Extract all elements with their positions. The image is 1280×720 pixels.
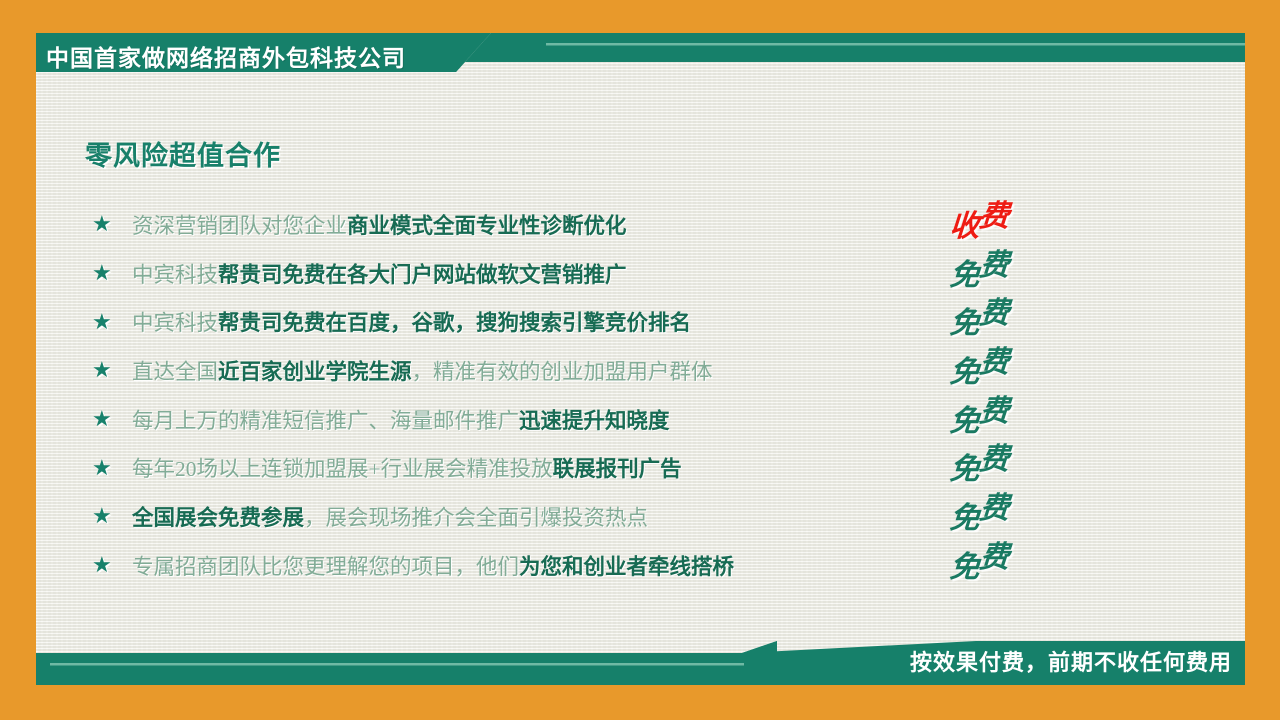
star-bullet-icon: ★ (92, 457, 132, 479)
benefit-row: ★资深营销团队对您企业商业模式全面专业性诊断优化 (92, 200, 1092, 249)
benefit-text-plain: 每年20场以上连锁加盟展+行业展会精准投放 (132, 457, 553, 481)
benefit-text-plain: 专属招商团队比您更理解您的项目，他们 (132, 555, 519, 579)
benefit-text-plain: ，精准有效的创业加盟用户群体 (412, 360, 713, 384)
benefit-list: ★资深营销团队对您企业商业模式全面专业性诊断优化★中宾科技帮贵司免费在各大门户网… (92, 200, 1092, 590)
status-badge: 免费 (948, 489, 1009, 538)
badge-row: 免费 (950, 249, 1070, 298)
benefit-text-emphasis: 联展报刊广告 (553, 457, 682, 481)
benefit-text-plain: 资深营销团队对您企业 (132, 214, 347, 238)
badge-char: 费 (978, 339, 1010, 388)
benefit-text-emphasis: 全国展会免费参展 (132, 506, 304, 530)
badge-char: 费 (978, 193, 1010, 242)
benefit-text-emphasis: 为您和创业者牵线搭桥 (519, 555, 734, 579)
benefit-text-emphasis: 帮贵司免费在各大门户网站做软文营销推广 (218, 263, 627, 287)
benefit-row: ★直达全国近百家创业学院生源，精准有效的创业加盟用户群体 (92, 346, 1092, 395)
benefit-row: ★中宾科技帮贵司免费在百度，谷歌，搜狗搜索引擎竞价排名 (92, 297, 1092, 346)
benefit-text-plain: 中宾科技 (132, 263, 218, 287)
star-bullet-icon: ★ (92, 311, 132, 333)
benefit-text-plain: 每月上万的精准短信推广、海量邮件推广 (132, 409, 519, 433)
badge-row: 免费 (950, 443, 1070, 492)
price-badge-column: 收费免费免费免费免费免费免费免费 (950, 200, 1070, 590)
benefit-text-emphasis: 近百家创业学院生源 (218, 360, 412, 384)
benefit-row: ★中宾科技帮贵司免费在各大门户网站做软文营销推广 (92, 249, 1092, 298)
benefit-row: ★每月上万的精准短信推广、海量邮件推广迅速提升知晓度 (92, 395, 1092, 444)
benefit-text-plain: 中宾科技 (132, 311, 218, 335)
badge-char: 免 (948, 495, 980, 544)
badge-char: 费 (978, 388, 1010, 437)
benefit-row: ★专属招商团队比您更理解您的项目，他们为您和创业者牵线搭桥 (92, 541, 1092, 590)
badge-char: 免 (948, 446, 980, 495)
badge-row: 免费 (950, 395, 1070, 444)
benefit-row: ★全国展会免费参展，展会现场推介会全面引爆投资热点 (92, 492, 1092, 541)
badge-char: 费 (978, 485, 1010, 534)
badge-char: 费 (978, 436, 1010, 485)
star-bullet-icon: ★ (92, 505, 132, 527)
benefit-row: ★每年20场以上连锁加盟展+行业展会精准投放联展报刊广告 (92, 443, 1092, 492)
page-title: 零风险超值合作 (85, 134, 281, 173)
benefit-text-plain: 直达全国 (132, 360, 218, 384)
star-bullet-icon: ★ (92, 262, 132, 284)
star-bullet-icon: ★ (92, 554, 132, 576)
benefit-text-plain: ，展会现场推介会全面引爆投资热点 (304, 506, 648, 530)
badge-char: 费 (978, 242, 1010, 291)
status-badge: 免费 (948, 343, 1009, 392)
badge-char: 收 (948, 203, 980, 252)
badge-char: 费 (978, 534, 1010, 583)
star-bullet-icon: ★ (92, 408, 132, 430)
status-badge: 免费 (948, 294, 1009, 343)
badge-char: 费 (978, 290, 1010, 339)
badge-char: 免 (948, 544, 980, 593)
benefit-text-emphasis: 迅速提升知晓度 (519, 409, 670, 433)
status-badge: 免费 (948, 440, 1009, 489)
status-badge: 免费 (948, 538, 1009, 587)
benefit-text-emphasis: 帮贵司免费在百度，谷歌，搜狗搜索引擎竞价排名 (218, 311, 691, 335)
star-bullet-icon: ★ (92, 213, 132, 235)
badge-char: 免 (948, 349, 980, 398)
status-badge: 免费 (948, 246, 1009, 295)
status-badge: 免费 (948, 392, 1009, 441)
status-badge: 收费 (948, 197, 1009, 246)
header-title: 中国首家做网络招商外包科技公司 (46, 39, 406, 73)
footer-tagline: 按效果付费，前期不收任何费用 (910, 645, 1232, 677)
badge-char: 免 (948, 300, 980, 349)
star-bullet-icon: ★ (92, 359, 132, 381)
benefit-text-emphasis: 商业模式全面专业性诊断优化 (347, 214, 627, 238)
slide-root: 中国首家做网络招商外包科技公司 零风险超值合作 ★资深营销团队对您企业商业模式全… (0, 0, 1280, 720)
badge-row: 免费 (950, 541, 1070, 590)
